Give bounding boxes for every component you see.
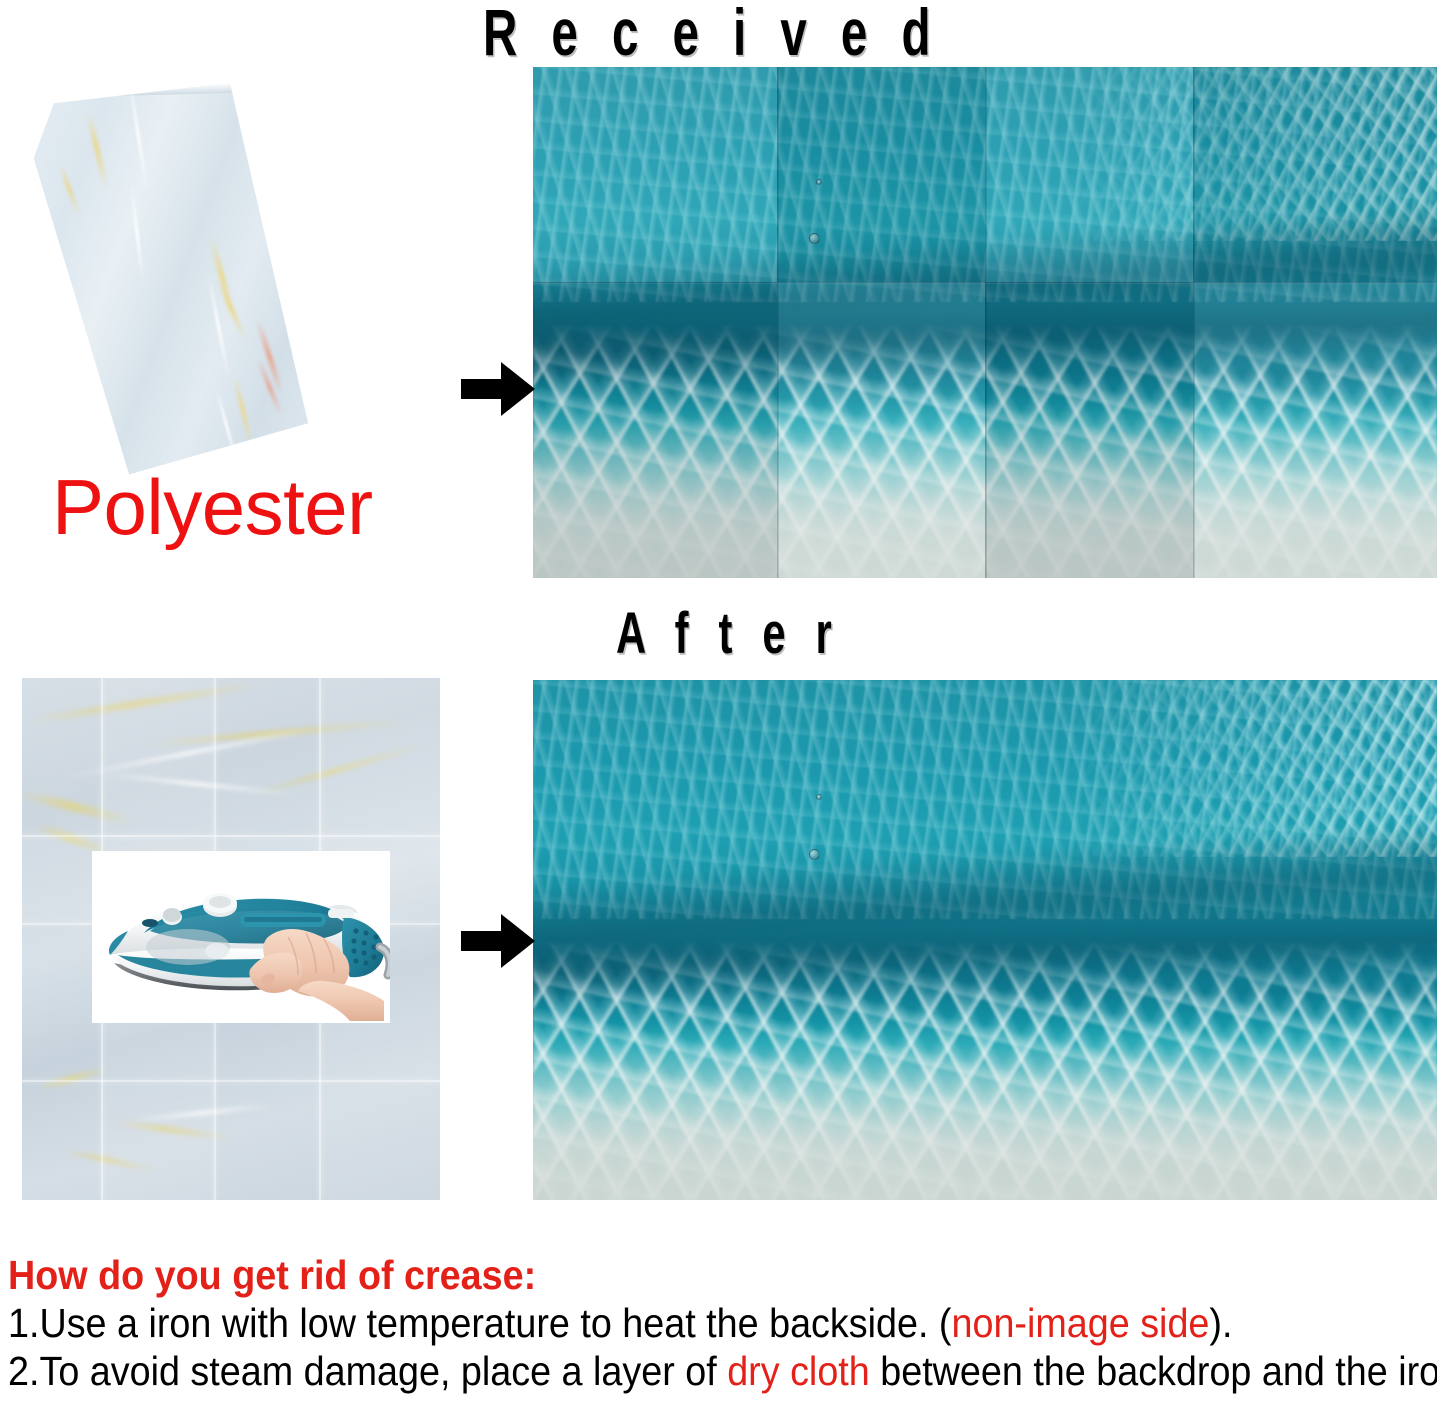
rolled-fabric-shape xyxy=(3,80,342,478)
instruction-1-suffix: ). xyxy=(1209,1300,1232,1346)
crease-line-horizontal xyxy=(533,282,1437,284)
crease-line-vertical xyxy=(1193,67,1195,578)
fabric-white-streak xyxy=(130,185,145,285)
fabric-gold-streak xyxy=(217,281,246,340)
instruction-2-prefix: 2.To avoid steam damage, place a layer o… xyxy=(8,1348,727,1394)
instructions-block: How do you get rid of crease: 1.Use a ir… xyxy=(8,1253,1433,1396)
crease-panel xyxy=(533,282,777,578)
crease-panel xyxy=(533,67,777,282)
fabric-top-edge xyxy=(39,80,341,98)
bubble-icon xyxy=(809,849,820,860)
crease-line-horizontal xyxy=(22,1080,440,1082)
crease-panel xyxy=(777,282,985,578)
received-backdrop-photo xyxy=(533,67,1437,578)
crease-panel xyxy=(985,67,1193,282)
fabric-gold-streak xyxy=(59,165,80,215)
right-arrow-icon xyxy=(461,912,535,975)
instruction-2-suffix: between the backdrop and the iron. xyxy=(870,1348,1437,1394)
instruction-line-1: 1.Use a iron with low temperature to hea… xyxy=(8,1299,1319,1347)
polyester-label: Polyester xyxy=(52,462,373,553)
fabric-gold-streak xyxy=(86,114,108,189)
instructions-heading: How do you get rid of crease: xyxy=(8,1253,1319,1299)
crease-line-horizontal xyxy=(22,835,440,837)
crease-line-vertical xyxy=(777,67,779,578)
received-title: R e c e i v e d xyxy=(483,0,941,70)
crease-line-vertical xyxy=(985,67,987,578)
instruction-2-highlight: dry cloth xyxy=(727,1348,870,1394)
steam-iron-icon xyxy=(92,851,390,1023)
fabric-white-streak xyxy=(128,80,149,192)
after-title: A f t e r xyxy=(616,600,841,667)
instruction-1-prefix: 1.Use a iron with low temperature to hea… xyxy=(8,1300,951,1346)
crease-panel xyxy=(1193,282,1437,578)
fabric-white-streak xyxy=(214,384,240,469)
crease-panel xyxy=(1193,67,1437,282)
fabric-gold-streak xyxy=(39,1067,106,1090)
crease-panel xyxy=(777,67,985,282)
instruction-line-2: 2.To avoid steam damage, place a layer o… xyxy=(8,1347,1319,1395)
crease-panel xyxy=(985,282,1193,578)
rolled-fabric-photo xyxy=(0,62,450,502)
after-backdrop-photo xyxy=(533,680,1437,1200)
sand-haze xyxy=(533,1023,1437,1200)
fabric-gold-streak xyxy=(233,377,253,446)
right-arrow-icon xyxy=(461,360,535,423)
instruction-1-highlight: non-image side xyxy=(951,1300,1209,1346)
crease-overlay xyxy=(533,67,1437,578)
iron-photo-card xyxy=(92,851,390,1023)
